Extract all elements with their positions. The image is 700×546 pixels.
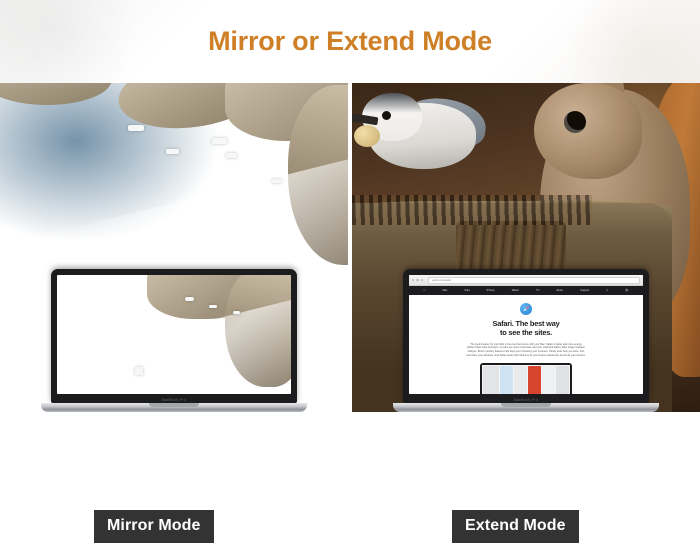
- boat-icon: [212, 138, 227, 144]
- laptop-screen-extend: apple.com/safari  Mac iPad iPhone Watch…: [409, 275, 643, 394]
- nested-tile: [556, 366, 569, 395]
- status-badge-mirror-mode: Mirror Mode: [94, 510, 214, 543]
- page-title: Mirror or Extend Mode: [208, 26, 492, 57]
- safari-toolbar[interactable]: apple.com/safari: [409, 275, 643, 286]
- header-banner: Mirror or Extend Mode: [0, 0, 700, 83]
- boat-icon: [135, 367, 143, 375]
- nav-item-mac[interactable]: Mac: [442, 289, 447, 292]
- laptop-lid: MacBook Pro: [51, 269, 297, 403]
- laptop-model-label: MacBook Pro: [51, 398, 297, 402]
- nested-laptop-lid: [480, 363, 572, 395]
- panel-extend-mode: apple.com/safari  Mac iPad iPhone Watch…: [350, 83, 700, 546]
- boat-icon: [185, 297, 194, 301]
- squirrel-head: [534, 83, 642, 179]
- caption-extend: Extend Mode Work as well as Play: [352, 412, 700, 546]
- nested-tile: [528, 366, 541, 395]
- close-icon[interactable]: [412, 279, 414, 281]
- nav-item-support[interactable]: Support: [580, 289, 589, 292]
- laptop-base: [41, 403, 307, 412]
- promo-graphic: Mirror or Extend Mode: [0, 0, 700, 546]
- laptop-model-label: MacBook Pro: [403, 398, 649, 402]
- badge-wrap-mirror: Mirror Mode: [94, 510, 214, 543]
- laptop-base-notch: [501, 403, 551, 407]
- boat-icon: [233, 311, 240, 314]
- nested-tile: [500, 366, 513, 395]
- status-badge-extend-mode: Extend Mode: [452, 510, 579, 543]
- laptop-extend: apple.com/safari  Mac iPad iPhone Watch…: [403, 269, 649, 412]
- safari-heading: Safari. The best way to see the sites.: [423, 319, 629, 338]
- caption-mirror: Mirror Mode Enjoy the Perfect Big Screen…: [0, 412, 348, 546]
- minimize-icon[interactable]: [416, 279, 418, 281]
- nested-macbook-image: [480, 363, 572, 395]
- laptop-base: [393, 403, 659, 412]
- laptop-base-notch: [149, 403, 199, 407]
- laptop-screen-mirror: [57, 275, 291, 394]
- badge-wrap-extend: Extend Mode: [452, 510, 579, 543]
- bird-eye: [382, 111, 391, 120]
- address-bar[interactable]: apple.com/safari: [428, 277, 640, 284]
- panels-container: MacBook Pro Mirror Mode Enjoy the Perfec…: [0, 83, 700, 546]
- panel-mirror-mode: MacBook Pro Mirror Mode Enjoy the Perfec…: [0, 83, 350, 546]
- boat-icon: [226, 153, 237, 158]
- nav-apple-logo-icon[interactable]: : [424, 289, 426, 292]
- nav-bag-icon[interactable]: 🛍: [625, 289, 628, 292]
- photo-aerial-beach: MacBook Pro: [0, 83, 348, 412]
- nav-item-music[interactable]: Music: [556, 289, 563, 292]
- nav-item-iphone[interactable]: iPhone: [487, 289, 495, 292]
- nav-item-watch[interactable]: Watch: [512, 289, 519, 292]
- safari-body-text: The best browser for your Mac is the one…: [466, 343, 586, 358]
- ground-debris: [352, 195, 592, 225]
- boat-icon: [166, 149, 179, 154]
- boat-icon: [272, 179, 282, 183]
- nav-item-tv[interactable]: TV: [536, 289, 539, 292]
- safari-browser-window: apple.com/safari  Mac iPad iPhone Watch…: [409, 275, 643, 394]
- nested-tile: [542, 366, 555, 395]
- safari-compass-icon: [520, 303, 532, 315]
- safari-hero-section: Safari. The best way to see the sites. T…: [409, 295, 643, 394]
- photo-bird-and-squirrel: apple.com/safari  Mac iPad iPhone Watch…: [352, 83, 700, 412]
- nav-search-icon[interactable]: ⚲: [606, 289, 608, 292]
- boat-icon: [209, 305, 217, 308]
- boat-icon: [128, 125, 144, 131]
- seed-icon: [354, 125, 380, 147]
- apple-nav-bar[interactable]:  Mac iPad iPhone Watch TV Music Support…: [409, 286, 643, 295]
- laptop-mirror: MacBook Pro: [51, 269, 297, 412]
- nav-item-ipad[interactable]: iPad: [464, 289, 469, 292]
- mirrored-wallpaper: [57, 275, 291, 394]
- maximize-icon[interactable]: [421, 279, 423, 281]
- nested-laptop-screen: [482, 365, 570, 395]
- nested-sidebar: [483, 366, 499, 395]
- laptop-lid: apple.com/safari  Mac iPad iPhone Watch…: [403, 269, 649, 403]
- squirrel-eye: [564, 111, 586, 133]
- nested-tile: [514, 366, 527, 395]
- nested-tiles: [500, 366, 569, 395]
